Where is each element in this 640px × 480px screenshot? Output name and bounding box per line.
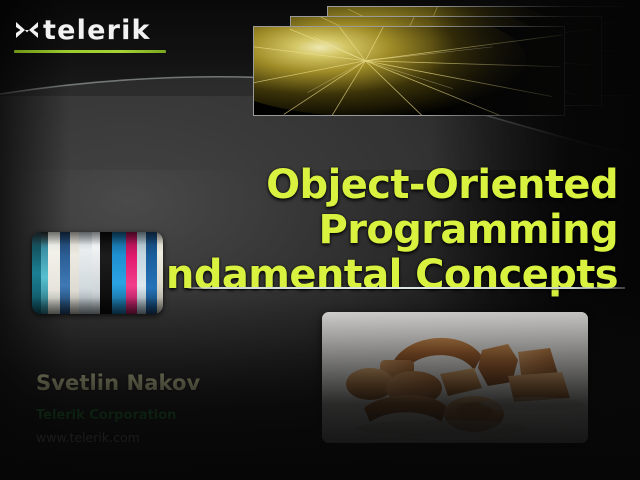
telerik-logo-underline bbox=[14, 50, 166, 53]
title-divider-rule bbox=[188, 287, 625, 289]
title-slide: telerik bbox=[0, 0, 640, 480]
wooden-objects-image bbox=[322, 312, 588, 443]
telerik-logo: telerik bbox=[14, 14, 174, 60]
books-shading bbox=[32, 232, 163, 314]
author-name: Svetlin Nakov bbox=[36, 370, 316, 396]
telerik-logo-text: telerik bbox=[43, 17, 151, 44]
author-block: Svetlin Nakov Telerik Corporation www.te… bbox=[36, 370, 316, 446]
wooden-shapes bbox=[322, 312, 588, 443]
programming-books-image bbox=[32, 232, 163, 314]
author-url[interactable]: www.telerik.com bbox=[36, 429, 316, 446]
author-organization: Telerik Corporation bbox=[36, 407, 316, 425]
telerik-bowtie-icon bbox=[14, 19, 40, 41]
